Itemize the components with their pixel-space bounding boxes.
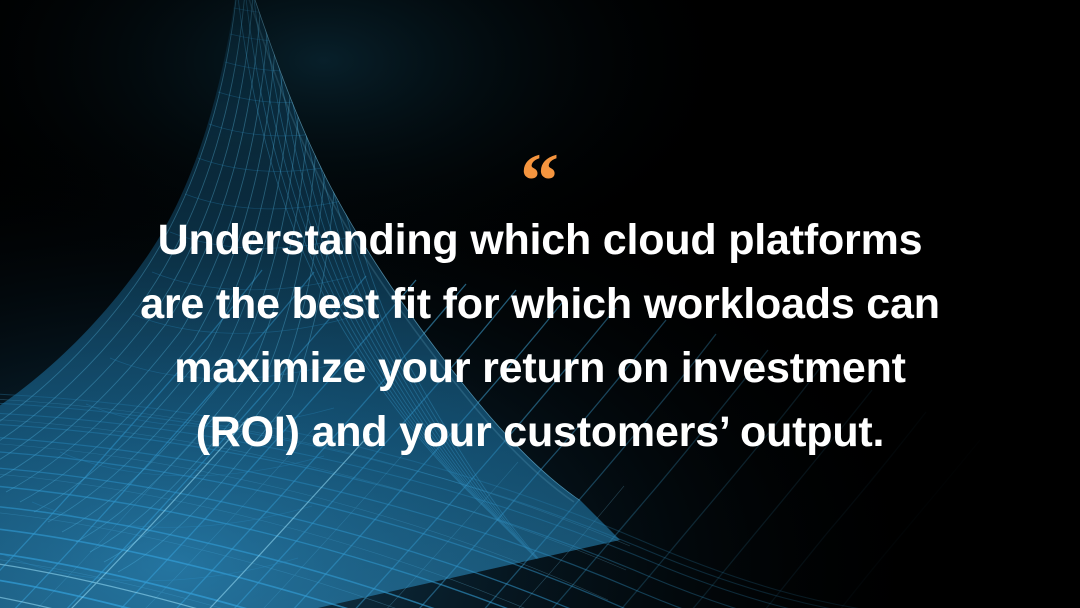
quotation-mark-icon: “	[520, 142, 560, 192]
quote-line-4: (ROI) and your customers’ output.	[90, 400, 990, 464]
quote-line-1: Understanding which cloud platforms	[90, 208, 990, 272]
quote-line-3: maximize your return on investment	[90, 336, 990, 400]
quote-block: “ Understanding which cloud platforms ar…	[0, 0, 1080, 608]
quote-text: Understanding which cloud platforms are …	[90, 208, 990, 464]
quote-line-2: are the best fit for which workloads can	[90, 272, 990, 336]
quote-slide: “ Understanding which cloud platforms ar…	[0, 0, 1080, 608]
